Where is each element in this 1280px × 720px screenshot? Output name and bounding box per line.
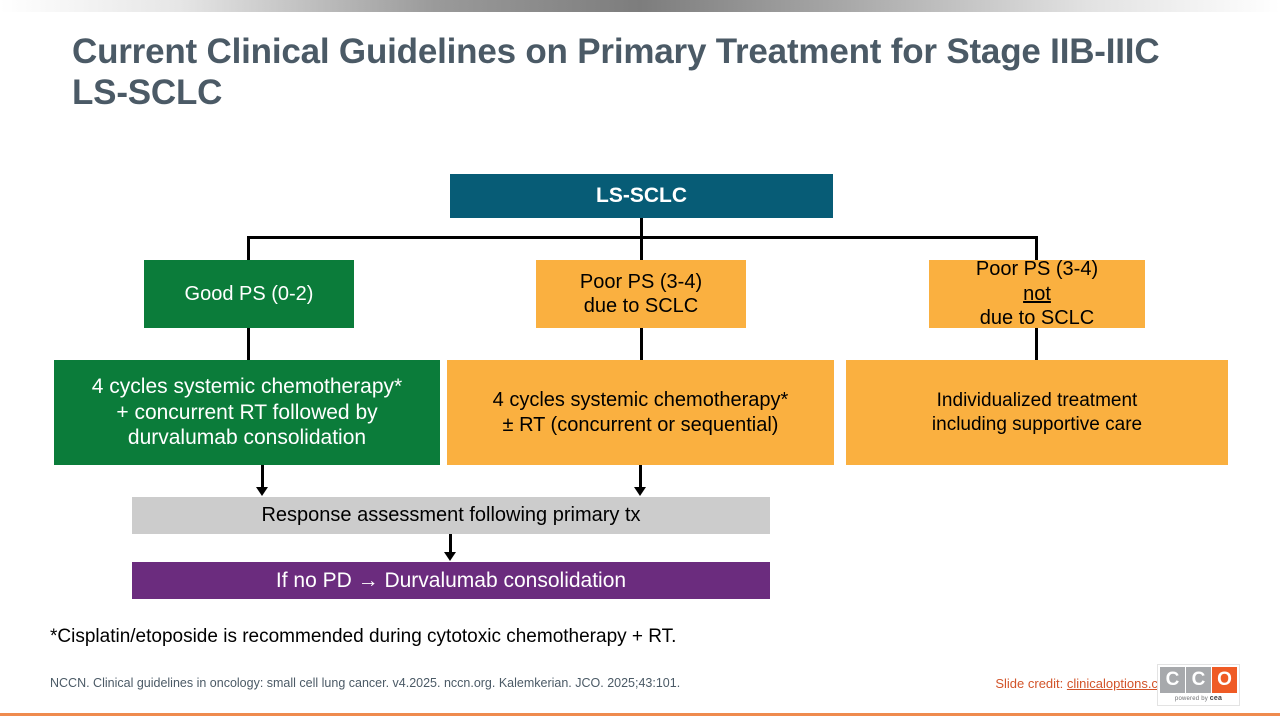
treatment-good-ps-line3: durvalumab consolidation xyxy=(92,425,402,451)
connector-drop-middle xyxy=(640,236,643,260)
footnote-text: *Cisplatin/etoposide is recommended duri… xyxy=(50,626,676,648)
slide-credit-label: Slide credit: xyxy=(995,676,1067,691)
bottom-accent-rule xyxy=(0,713,1280,716)
top-decorative-strip xyxy=(0,0,1280,12)
cco-logo: C C O powered by cea xyxy=(1157,664,1240,706)
flow-box-treatment-poor-ps-due: 4 cycles systemic chemotherapy* ± RT (co… xyxy=(447,360,834,465)
flow-box-treatment-good-ps: 4 cycles systemic chemotherapy* + concur… xyxy=(54,360,440,465)
connector-drop-left xyxy=(247,236,250,260)
flow-box-poor-ps-not-line2-rest: due to SCLC xyxy=(976,306,1098,330)
flow-box-treatment-poor-ps-not: Individualized treatment including suppo… xyxy=(846,360,1228,465)
treatment-good-ps-line2: + concurrent RT followed by xyxy=(92,400,402,426)
arrowhead-green-to-response-icon xyxy=(256,487,268,496)
connector-orange-to-response xyxy=(639,465,642,488)
flow-box-poor-ps-not-due-to-sclc: Poor PS (3-4) not due to SCLC xyxy=(929,260,1145,328)
cco-logo-tagline-prefix: powered by xyxy=(1175,696,1210,702)
flow-box-response-assessment: Response assessment following primary tx xyxy=(132,497,770,534)
treatment-poor-ps-due-line2: ± RT (concurrent or sequential) xyxy=(493,413,789,437)
connector-poor-ps-not-to-treatment xyxy=(1035,328,1038,360)
cco-logo-letter-c1: C xyxy=(1160,667,1185,693)
flow-box-ls-sclc-label: LS-SCLC xyxy=(596,183,687,209)
connector-response-to-consolidation xyxy=(449,534,452,553)
slide-credit: Slide credit: clinicaloptions.com xyxy=(995,676,1176,691)
flow-box-durvalumab-consolidation-label: If no PD → Durvalumab consolidation xyxy=(276,568,626,594)
cco-logo-tagline-brand: cea xyxy=(1210,695,1222,702)
treatment-good-ps-line1: 4 cycles systemic chemotherapy* xyxy=(92,374,402,400)
page-title: Current Clinical Guidelines on Primary T… xyxy=(72,32,1182,113)
flow-box-poor-ps-due-line2: due to SCLC xyxy=(580,294,702,318)
connector-root-stem xyxy=(640,218,643,238)
flow-box-poor-ps-due-line1: Poor PS (3-4) xyxy=(580,270,702,294)
flow-box-poor-ps-not-line2: not due to SCLC xyxy=(976,282,1098,331)
cco-logo-letter-o: O xyxy=(1212,667,1237,693)
arrowhead-response-to-consolidation-icon xyxy=(444,552,456,561)
flow-box-ls-sclc: LS-SCLC xyxy=(450,174,833,218)
flow-box-poor-ps-not-line1: Poor PS (3-4) xyxy=(976,257,1098,281)
arrowhead-orange-to-response-icon xyxy=(634,487,646,496)
connector-good-ps-to-treatment xyxy=(247,328,250,360)
treatment-poor-ps-not-line2: including supportive care xyxy=(932,413,1142,436)
citation-text: NCCN. Clinical guidelines in oncology: s… xyxy=(50,676,680,690)
flow-box-poor-ps-due-to-sclc: Poor PS (3-4) due to SCLC xyxy=(536,260,746,328)
cco-logo-tagline: powered by cea xyxy=(1158,695,1239,702)
connector-drop-right xyxy=(1035,236,1038,260)
emphasis-not: not xyxy=(1023,283,1051,305)
flow-box-good-ps-label: Good PS (0-2) xyxy=(185,282,314,306)
connector-poor-ps-due-to-treatment xyxy=(640,328,643,360)
connector-green-to-response xyxy=(261,465,264,488)
flow-box-durvalumab-consolidation: If no PD → Durvalumab consolidation xyxy=(132,562,770,599)
treatment-poor-ps-not-line1: Individualized treatment xyxy=(932,389,1142,412)
flow-box-response-assessment-label: Response assessment following primary tx xyxy=(261,503,640,527)
flow-box-good-ps: Good PS (0-2) xyxy=(144,260,354,328)
cco-logo-letters: C C O xyxy=(1158,665,1239,693)
slide-root: Current Clinical Guidelines on Primary T… xyxy=(0,0,1280,720)
treatment-poor-ps-due-line1: 4 cycles systemic chemotherapy* xyxy=(493,388,789,412)
cco-logo-letter-c2: C xyxy=(1186,667,1211,693)
